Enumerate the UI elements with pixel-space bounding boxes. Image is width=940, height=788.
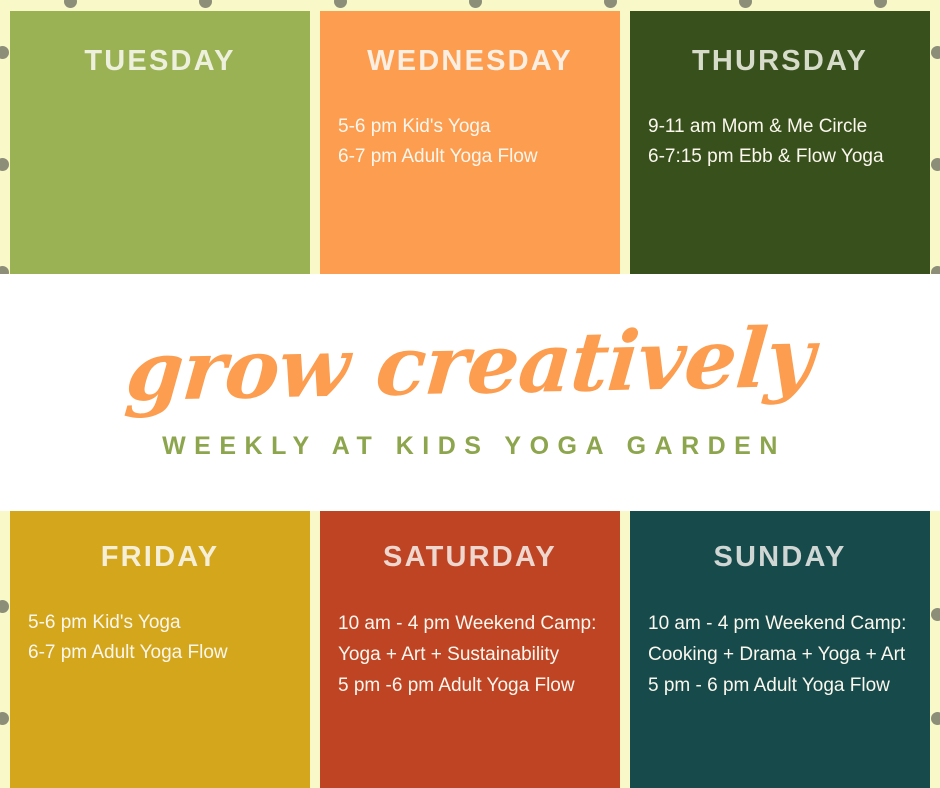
schedule-line: 6-7 pm Adult Yoga Flow xyxy=(338,142,602,172)
weekly-schedule-poster: TUESDAY WEDNESDAY 5-6 pm Kid's Yoga 6-7 … xyxy=(0,0,940,788)
schedule-line: 10 am - 4 pm Weekend Camp: xyxy=(338,608,602,639)
day-card-friday[interactable]: FRIDAY 5-6 pm Kid's Yoga 6-7 pm Adult Yo… xyxy=(10,511,310,788)
day-schedule-wednesday: 5-6 pm Kid's Yoga 6-7 pm Adult Yoga Flow xyxy=(338,112,602,172)
schedule-row-bottom: FRIDAY 5-6 pm Kid's Yoga 6-7 pm Adult Yo… xyxy=(10,511,930,788)
schedule-line: 5-6 pm Kid's Yoga xyxy=(28,608,292,638)
brand-tagline: WEEKLY AT KIDS YOGA GARDEN xyxy=(154,432,786,461)
day-card-sunday[interactable]: SUNDAY 10 am - 4 pm Weekend Camp: Cookin… xyxy=(630,511,930,788)
day-schedule-sunday: 10 am - 4 pm Weekend Camp: Cooking + Dra… xyxy=(648,608,912,701)
day-title-sunday: SUNDAY xyxy=(648,541,912,574)
day-schedule-thursday: 9-11 am Mom & Me Circle 6-7:15 pm Ebb & … xyxy=(648,112,912,172)
day-card-saturday[interactable]: SATURDAY 10 am - 4 pm Weekend Camp: Yoga… xyxy=(320,511,620,788)
script-headline: grow creatively xyxy=(123,317,817,413)
day-title-tuesday: TUESDAY xyxy=(28,45,292,78)
day-card-wednesday[interactable]: WEDNESDAY 5-6 pm Kid's Yoga 6-7 pm Adult… xyxy=(320,11,620,274)
schedule-line: 6-7 pm Adult Yoga Flow xyxy=(28,638,292,668)
schedule-row-top: TUESDAY WEDNESDAY 5-6 pm Kid's Yoga 6-7 … xyxy=(10,11,930,274)
schedule-line: 9-11 am Mom & Me Circle xyxy=(648,112,912,142)
schedule-line: Yoga + Art + Sustainability xyxy=(338,639,602,670)
brand-band: grow creatively WEEKLY AT KIDS YOGA GARD… xyxy=(0,274,940,511)
schedule-line: 5-6 pm Kid's Yoga xyxy=(338,112,602,142)
schedule-line: 10 am - 4 pm Weekend Camp: Cooking + Dra… xyxy=(648,608,912,670)
schedule-line: 5 pm -6 pm Adult Yoga Flow xyxy=(338,670,602,701)
day-title-saturday: SATURDAY xyxy=(338,541,602,574)
day-card-tuesday[interactable]: TUESDAY xyxy=(10,11,310,274)
day-schedule-friday: 5-6 pm Kid's Yoga 6-7 pm Adult Yoga Flow xyxy=(28,608,292,668)
day-schedule-saturday: 10 am - 4 pm Weekend Camp: Yoga + Art + … xyxy=(338,608,602,701)
day-card-thursday[interactable]: THURSDAY 9-11 am Mom & Me Circle 6-7:15 … xyxy=(630,11,930,274)
day-title-friday: FRIDAY xyxy=(28,541,292,574)
day-title-wednesday: WEDNESDAY xyxy=(338,45,602,78)
day-title-thursday: THURSDAY xyxy=(648,45,912,78)
schedule-line: 5 pm - 6 pm Adult Yoga Flow xyxy=(648,670,912,701)
schedule-line: 6-7:15 pm Ebb & Flow Yoga xyxy=(648,142,912,172)
